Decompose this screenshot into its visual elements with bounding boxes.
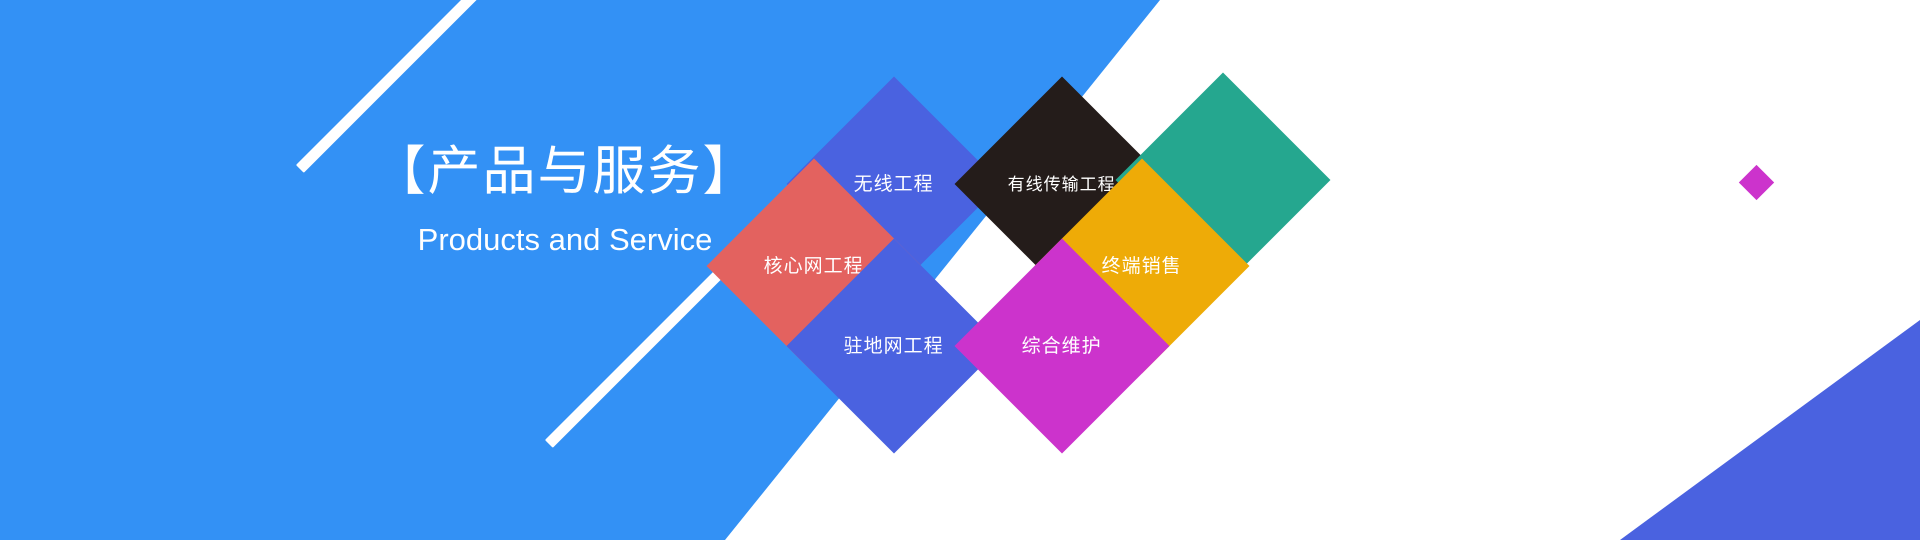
corner-wedge-shape	[1620, 320, 1920, 540]
tile-label: 有线传输工程	[1008, 175, 1116, 194]
tile-label: 驻地网工程	[844, 336, 944, 355]
products-services-banner: 【产品与服务】 Products and Service 无线工程 有线传输工程…	[0, 0, 1920, 540]
tile-label: 无线工程	[854, 174, 934, 193]
mini-diamond-icon	[1739, 165, 1774, 200]
tile-label: 综合维护	[1022, 336, 1102, 355]
tile-label: 终端销售	[1102, 256, 1182, 275]
blue-background-panel	[0, 0, 1160, 540]
tile-label: 核心网工程	[764, 256, 864, 275]
